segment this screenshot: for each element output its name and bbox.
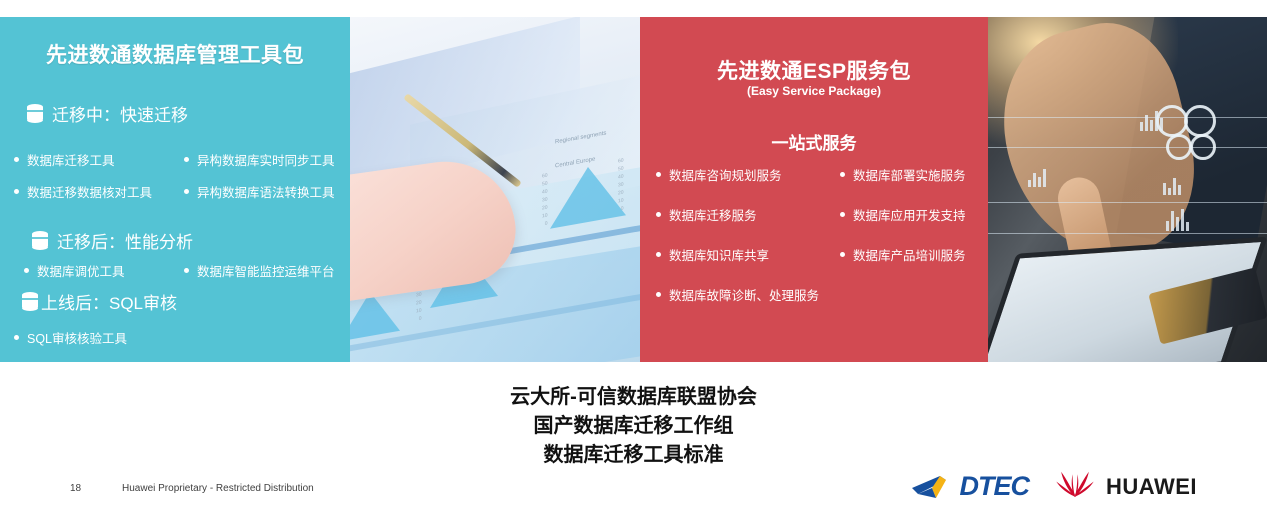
teal-section-heading-after-golive: 上线后：SQL审核: [22, 289, 177, 314]
photo-finger-tablet: [988, 17, 1267, 362]
list-item: 数据库应用开发支持: [840, 205, 966, 224]
bullet-dot-icon: [656, 172, 661, 177]
list-item-label: 数据库智能监控运维平台: [197, 261, 335, 280]
bullet-dot-icon: [184, 157, 189, 162]
photo-shape: [1140, 109, 1163, 131]
list-item-label: 数据库调优工具: [37, 261, 125, 280]
list-item-label: 数据库部署实施服务: [853, 165, 966, 184]
confidentiality-notice: Huawei Proprietary - Restricted Distribu…: [122, 483, 314, 494]
list-item-label: 数据库应用开发支持: [853, 205, 966, 224]
page-title: 云大所-可信数据库联盟协会 国产数据库迁移工作组 数据库迁移工具标准: [0, 383, 1267, 470]
dtec-logo: DTEC: [912, 471, 1030, 502]
database-icon: [27, 104, 43, 123]
logo-group: DTEC HUAWEI: [912, 470, 1198, 503]
list-item-label: 数据库咨询规划服务: [669, 165, 782, 184]
teal-bullet-group-after-migration: 数据库调优工具 数据库智能监控运维平台: [24, 261, 335, 280]
red-panel-title: 先进数通ESP服务包: [640, 55, 988, 85]
list-item-label: 数据库产品培训服务: [853, 245, 966, 264]
list-item: 数据迁移数据核对工具: [14, 182, 174, 201]
photo-shape: [988, 117, 1267, 118]
photo-shape: [988, 202, 1267, 203]
teal-panel-title: 先进数通数据库管理工具包: [0, 39, 350, 69]
bullet-dot-icon: [840, 172, 845, 177]
bullet-dot-icon: [840, 252, 845, 257]
list-item: 数据库智能监控运维平台: [184, 261, 335, 280]
bullet-dot-icon: [840, 212, 845, 217]
list-item-label: 数据库知识库共享: [669, 245, 769, 264]
list-item-label: 数据库迁移服务: [669, 205, 757, 224]
teal-section-heading-label: 迁移中：快速迁移: [52, 101, 188, 126]
red-panel: 先进数通ESP服务包 (Easy Service Package) 一站式服务 …: [640, 17, 988, 362]
list-item-label: 异构数据库实时同步工具: [197, 150, 335, 169]
photo-shape: [1184, 105, 1216, 137]
list-item: 异构数据库实时同步工具: [184, 150, 335, 169]
photo-axis-ticks: 6050403020100: [618, 157, 624, 214]
database-icon: [32, 231, 48, 250]
page-number: 18: [70, 483, 81, 494]
huawei-flower-icon: [1053, 470, 1097, 503]
teal-section-heading-after-migration: 迁移后：性能分析: [32, 228, 193, 253]
list-item: 数据库咨询规划服务: [656, 165, 836, 184]
list-item: 数据库故障诊断、处理服务: [656, 285, 836, 304]
list-item-label: 数据库故障诊断、处理服务: [669, 285, 819, 304]
bullet-dot-icon: [656, 212, 661, 217]
red-bullet-group: 数据库咨询规划服务 数据库部署实施服务 数据库迁移服务 数据库应用开发支持 数据…: [656, 165, 966, 304]
bullet-dot-icon: [656, 292, 661, 297]
database-icon: [22, 292, 38, 311]
photo-shape: [1028, 167, 1046, 187]
page-title-line-3: 数据库迁移工具标准: [0, 441, 1267, 470]
bullet-dot-icon: [14, 335, 19, 340]
list-item-label: 数据迁移数据核对工具: [27, 182, 152, 201]
dtec-arrow-icon: [912, 474, 958, 500]
photo-shape: [988, 233, 1267, 234]
bullet-dot-icon: [184, 268, 189, 273]
teal-bullet-group-migrating: 数据库迁移工具 异构数据库实时同步工具 数据迁移数据核对工具 异构数据库语法转换…: [14, 150, 335, 201]
red-section-heading: 一站式服务: [640, 129, 988, 154]
bullet-dot-icon: [24, 268, 29, 273]
photo-shape: [1163, 175, 1181, 195]
photo-shape: [988, 147, 1267, 148]
list-item: SQL审核核验工具: [14, 328, 127, 347]
list-item-label: 异构数据库语法转换工具: [197, 182, 335, 201]
photo-hand-writing-charts: Regional segments Central Europe West Eu…: [350, 17, 640, 362]
list-item: 数据库知识库共享: [656, 245, 836, 264]
teal-section-heading-label: 迁移后：性能分析: [57, 228, 193, 253]
teal-section-heading-migrating: 迁移中：快速迁移: [27, 101, 188, 126]
bullet-dot-icon: [14, 157, 19, 162]
list-item: 异构数据库语法转换工具: [184, 182, 335, 201]
list-item: 数据库迁移服务: [656, 205, 836, 224]
red-panel-subtitle: (Easy Service Package): [640, 84, 988, 98]
teal-bullet-group-after-golive: SQL审核核验工具: [14, 328, 127, 347]
photo-shape: [1190, 134, 1216, 160]
photo-shape: [1166, 207, 1189, 231]
page-title-line-1: 云大所-可信数据库联盟协会: [0, 383, 1267, 412]
bullet-dot-icon: [14, 189, 19, 194]
list-item: 数据库部署实施服务: [840, 165, 966, 184]
banner-strip: 先进数通数据库管理工具包 迁移中：快速迁移 数据库迁移工具 异构数据库实时同步工…: [0, 17, 1267, 362]
huawei-logo: HUAWEI: [1053, 470, 1197, 503]
list-item: 数据库产品培训服务: [840, 245, 966, 264]
photo-shape: [1166, 134, 1192, 160]
dtec-wordmark: DTEC: [960, 471, 1030, 502]
teal-panel: 先进数通数据库管理工具包 迁移中：快速迁移 数据库迁移工具 异构数据库实时同步工…: [0, 17, 350, 362]
list-item-label: 数据库迁移工具: [27, 150, 115, 169]
bullet-dot-icon: [184, 189, 189, 194]
bullet-dot-icon: [656, 252, 661, 257]
teal-section-heading-label: 上线后：SQL审核: [41, 289, 177, 314]
page-title-line-2: 国产数据库迁移工作组: [0, 412, 1267, 441]
photo-axis-ticks: 6050403020100: [542, 172, 548, 229]
list-item: 数据库迁移工具: [14, 150, 174, 169]
huawei-wordmark: HUAWEI: [1106, 474, 1197, 500]
list-item: 数据库调优工具: [24, 261, 174, 280]
list-item-label: SQL审核核验工具: [27, 328, 127, 347]
